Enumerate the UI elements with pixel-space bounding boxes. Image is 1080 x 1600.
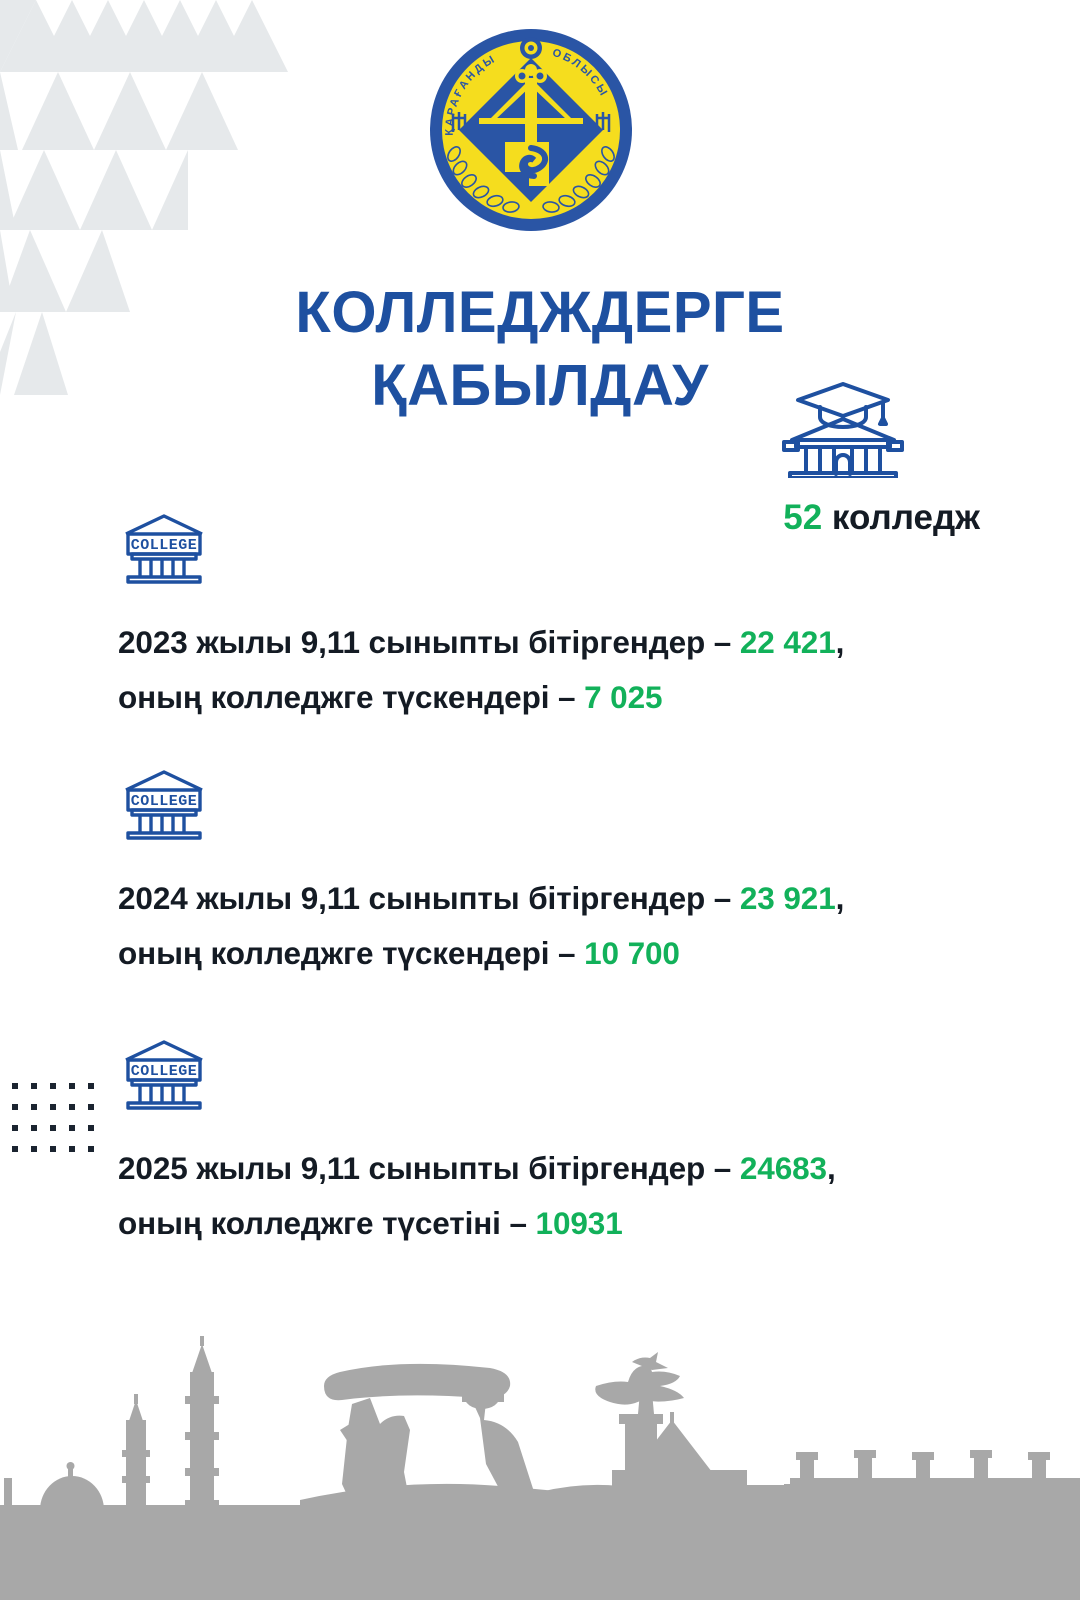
text-prefix-2: оның колледжге түскендері – bbox=[118, 935, 584, 971]
graduates-value: 24683 bbox=[740, 1150, 827, 1186]
year-row-2024-text: 2024 жылы 9,11 сыныпты бітіргендер – 23 … bbox=[118, 871, 1008, 981]
university-graduation-cap-icon bbox=[782, 378, 904, 478]
year-row-2023-text: 2023 жылы 9,11 сыныпты бітіргендер – 22 … bbox=[118, 615, 1008, 725]
graduates-value: 22 421 bbox=[740, 624, 836, 660]
enrolled-value: 10 700 bbox=[584, 935, 680, 971]
year-row-2024: COLLEGE 2024 жылы 9,11 сыныпты бітіргенд… bbox=[0, 768, 1080, 981]
college-building-icon: COLLEGE bbox=[120, 512, 208, 584]
year-row-2023: COLLEGE 2023 жылы 9,11 сыныпты бітіргенд… bbox=[0, 512, 1080, 725]
year-row-2025: COLLEGE 2025 жылы 9,11 сыныпты бітіргенд… bbox=[0, 1038, 1080, 1251]
page-title: КОЛЛЕДЖДЕРГЕ ҚАБЫЛДАУ bbox=[0, 276, 1080, 422]
text-suffix: , bbox=[836, 880, 845, 916]
college-icon-text: COLLEGE bbox=[131, 1063, 198, 1080]
text-prefix: 2025 жылы 9,11 сыныпты бітіргендер – bbox=[118, 1150, 740, 1186]
page-title-line-2: ҚАБЫЛДАУ bbox=[0, 349, 1080, 422]
karaganda-region-coat-of-arms: ҚАРАҒАНДЫ ОБЛЫСЫ bbox=[427, 26, 635, 234]
karaganda-city-skyline-silhouette bbox=[0, 1300, 1080, 1600]
page-title-line-1: КОЛЛЕДЖДЕРГЕ bbox=[0, 276, 1080, 349]
text-suffix: , bbox=[827, 1150, 836, 1186]
enrolled-value: 7 025 bbox=[584, 679, 662, 715]
college-icon-text: COLLEGE bbox=[131, 537, 198, 554]
text-prefix: 2023 жылы 9,11 сыныпты бітіргендер – bbox=[118, 624, 740, 660]
college-building-icon: COLLEGE bbox=[120, 1038, 208, 1110]
text-prefix-2: оның колледжге түсетіні – bbox=[118, 1205, 536, 1241]
graduates-value: 23 921 bbox=[740, 880, 836, 916]
enrolled-value: 10931 bbox=[536, 1205, 623, 1241]
year-row-2025-text: 2025 жылы 9,11 сыныпты бітіргендер – 246… bbox=[118, 1141, 1008, 1251]
college-icon-text: COLLEGE bbox=[131, 793, 198, 810]
text-suffix: , bbox=[836, 624, 845, 660]
text-prefix-2: оның колледжге түскендері – bbox=[118, 679, 584, 715]
college-building-icon: COLLEGE bbox=[120, 768, 208, 840]
text-prefix: 2024 жылы 9,11 сыныпты бітіргендер – bbox=[118, 880, 740, 916]
